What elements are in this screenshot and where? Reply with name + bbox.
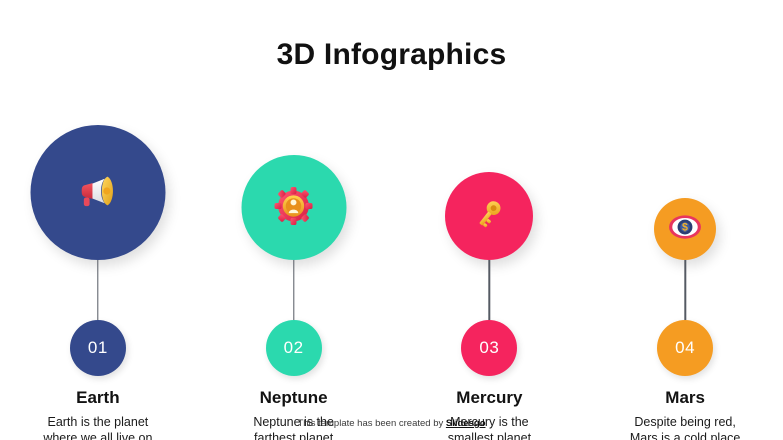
step-badge-1[interactable]: 01 bbox=[70, 320, 126, 376]
step-badge-2[interactable]: 02 bbox=[266, 320, 322, 376]
connector-line-2 bbox=[293, 260, 294, 320]
item-name-1: Earth bbox=[0, 388, 196, 408]
slide-canvas: 3D Infographics bbox=[0, 0, 783, 440]
icon-bubble-4[interactable]: $ bbox=[654, 198, 716, 260]
svg-text:$: $ bbox=[682, 222, 688, 234]
item-name-2: Neptune bbox=[196, 388, 392, 408]
megaphone-icon bbox=[75, 168, 121, 218]
bubble-zone-3 bbox=[392, 100, 588, 260]
infographic-columns: 01 Earth Earth is the planet where we al… bbox=[0, 100, 783, 405]
icon-bubble-1[interactable] bbox=[30, 125, 165, 260]
gear-user-icon bbox=[275, 187, 313, 229]
icon-bubble-3[interactable] bbox=[445, 172, 533, 260]
step-number-1: 01 bbox=[88, 338, 108, 358]
bubble-zone-2 bbox=[196, 100, 392, 260]
step-number-4: 04 bbox=[675, 338, 695, 358]
infographic-item-4: $ 04 Mars Despite being red, Mars is a c… bbox=[587, 100, 783, 405]
item-name-3: Mercury bbox=[392, 388, 588, 408]
step-number-3: 03 bbox=[479, 338, 499, 358]
infographic-item-1: 01 Earth Earth is the planet where we al… bbox=[0, 100, 196, 405]
footer-text: This template has been created by bbox=[298, 418, 446, 429]
bubble-zone-4: $ bbox=[587, 100, 783, 260]
infographic-item-3: 03 Mercury Mercury is the smallest plane… bbox=[392, 100, 588, 405]
key-icon bbox=[472, 197, 506, 235]
eye-dollar-icon: $ bbox=[668, 210, 702, 248]
item-name-4: Mars bbox=[587, 388, 783, 408]
infographic-item-2: 02 Neptune Neptune is the farthest plane… bbox=[196, 100, 392, 405]
step-badge-3[interactable]: 03 bbox=[461, 320, 517, 376]
connector-line-4 bbox=[684, 260, 685, 320]
slidesgo-link[interactable]: Slidesgo bbox=[446, 418, 486, 429]
connector-line-1 bbox=[97, 260, 98, 320]
step-badge-4[interactable]: 04 bbox=[657, 320, 713, 376]
icon-bubble-2[interactable] bbox=[241, 155, 346, 260]
step-number-2: 02 bbox=[284, 338, 304, 358]
footer-credit: This template has been created by Slides… bbox=[0, 418, 783, 429]
bubble-zone-1 bbox=[0, 100, 196, 260]
connector-line-3 bbox=[489, 260, 490, 320]
page-title: 3D Infographics bbox=[0, 38, 783, 72]
